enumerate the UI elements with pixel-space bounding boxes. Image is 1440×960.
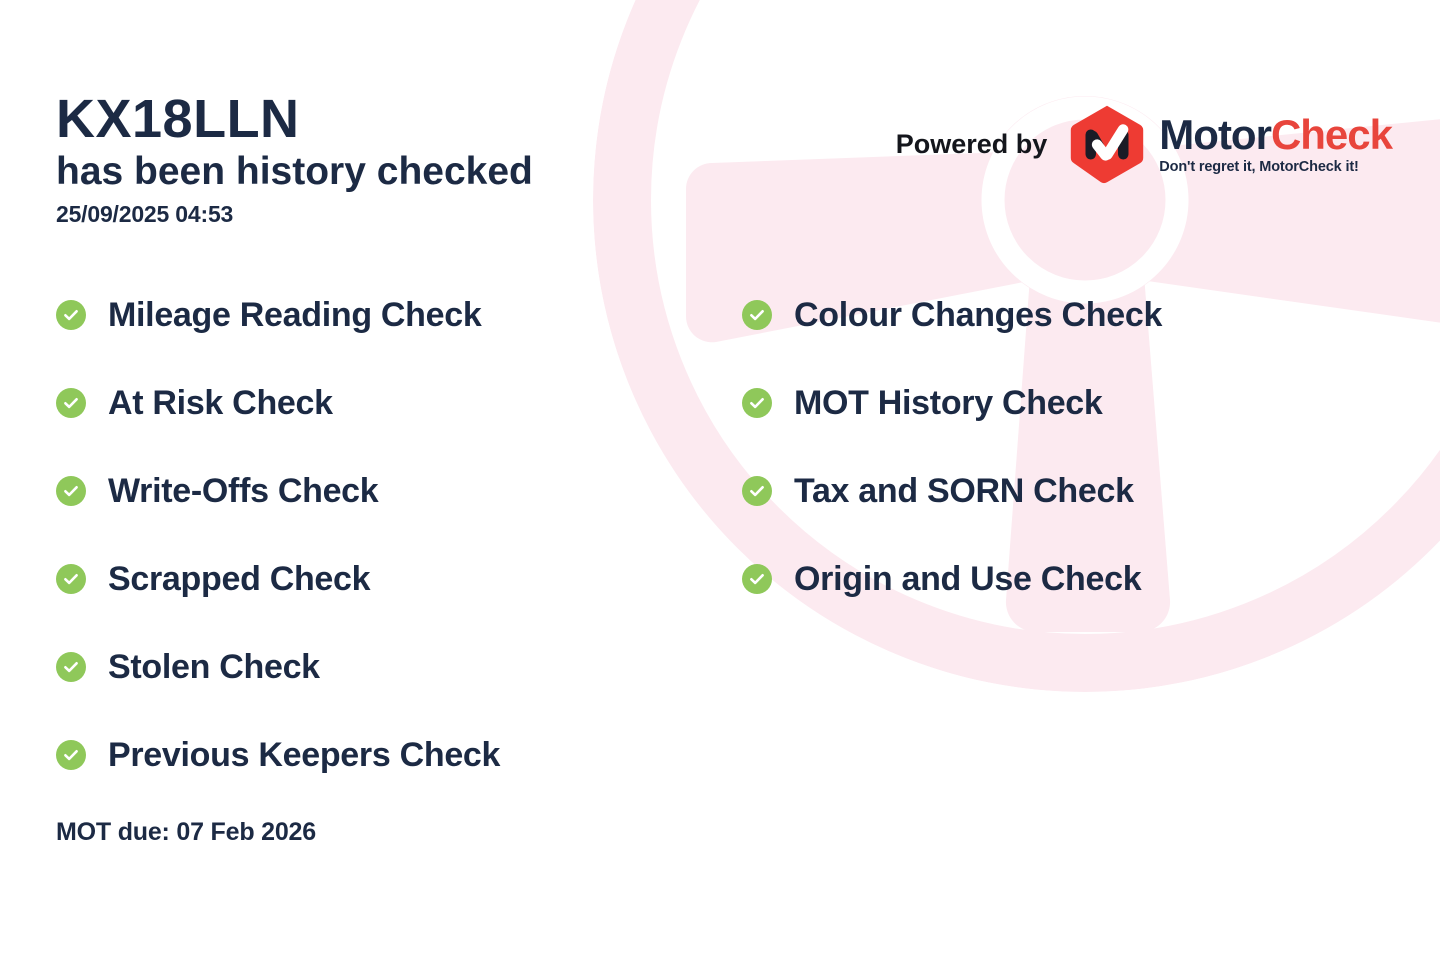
check-circle-icon: [742, 388, 772, 418]
list-item: Scrapped Check: [56, 556, 500, 602]
motorcheck-wordmark: MotorCheck: [1159, 114, 1392, 156]
check-label: Stolen Check: [108, 648, 320, 687]
check-label: At Risk Check: [108, 384, 333, 423]
check-label: Origin and Use Check: [794, 560, 1141, 599]
list-item: Origin and Use Check: [742, 556, 1162, 602]
list-item: Colour Changes Check: [742, 292, 1162, 338]
check-circle-icon: [56, 740, 86, 770]
wordmark-check: Check: [1271, 111, 1392, 158]
check-list-right: Colour Changes Check MOT History Check T…: [742, 292, 1162, 602]
check-label: Write-Offs Check: [108, 472, 378, 511]
check-circle-icon: [742, 564, 772, 594]
list-item: Stolen Check: [56, 644, 500, 690]
list-item: Write-Offs Check: [56, 468, 500, 514]
check-circle-icon: [742, 476, 772, 506]
check-circle-icon: [56, 476, 86, 506]
check-circle-icon: [56, 388, 86, 418]
list-item: MOT History Check: [742, 380, 1162, 426]
list-item: Mileage Reading Check: [56, 292, 500, 338]
check-label: MOT History Check: [794, 384, 1103, 423]
motorcheck-hexagon-icon: [1069, 104, 1145, 184]
plate-number: KX18LLN: [56, 92, 533, 147]
check-timestamp: 25/09/2025 04:53: [56, 201, 533, 228]
check-circle-icon: [56, 300, 86, 330]
list-item: At Risk Check: [56, 380, 500, 426]
check-circle-icon: [56, 564, 86, 594]
check-label: Previous Keepers Check: [108, 736, 500, 775]
powered-by-label: Powered by: [896, 129, 1048, 160]
mot-due-text: MOT due: 07 Feb 2026: [56, 818, 316, 847]
check-label: Colour Changes Check: [794, 296, 1162, 335]
list-item: Tax and SORN Check: [742, 468, 1162, 514]
check-label: Scrapped Check: [108, 560, 370, 599]
check-label: Tax and SORN Check: [794, 472, 1134, 511]
motorcheck-text-lockup: MotorCheck Don't regret it, MotorCheck i…: [1159, 114, 1392, 175]
check-circle-icon: [742, 300, 772, 330]
powered-by-block: Powered by MotorCheck Don't regret it, M…: [896, 104, 1392, 184]
list-item: Previous Keepers Check: [56, 732, 500, 778]
check-list-left: Mileage Reading Check At Risk Check Writ…: [56, 292, 500, 778]
header-block: KX18LLN has been history checked 25/09/2…: [56, 92, 533, 228]
page-title: has been history checked: [56, 149, 533, 195]
check-label: Mileage Reading Check: [108, 296, 481, 335]
motorcheck-logo[interactable]: MotorCheck Don't regret it, MotorCheck i…: [1069, 104, 1392, 184]
wordmark-motor: Motor: [1159, 111, 1271, 158]
check-circle-icon: [56, 652, 86, 682]
motorcheck-tagline: Don't regret it, MotorCheck it!: [1159, 160, 1392, 175]
